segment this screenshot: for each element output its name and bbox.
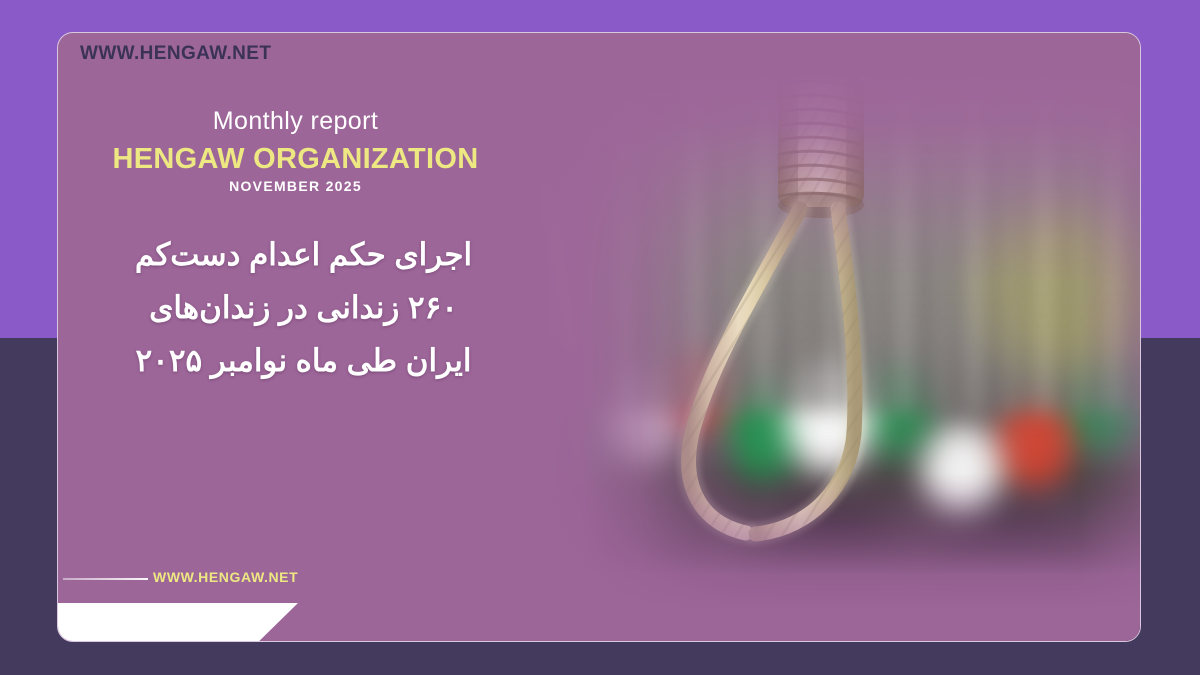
- website-url-banner-label[interactable]: WWW.HENGAW.NET: [80, 43, 271, 65]
- text-column: Monthly report HENGAW ORGANIZATION NOVEM…: [58, 33, 578, 642]
- headline-line-3: ایران طی ماه نوامبر ۲۰۲۵: [76, 334, 531, 387]
- headline: اجرای حکم اعدام دست‌کم ۲۶۰ زندانی در زند…: [76, 228, 531, 387]
- report-month: NOVEMBER 2025: [58, 178, 533, 194]
- url-divider-rule: [63, 578, 148, 580]
- website-url-banner[interactable]: [58, 603, 298, 642]
- website-url-accent[interactable]: WWW.HENGAW.NET: [153, 569, 298, 585]
- website-url-row: WWW.HENGAW.NET: [58, 569, 528, 589]
- kicker-label: Monthly report: [58, 107, 533, 136]
- report-card: Monthly report HENGAW ORGANIZATION NOVEM…: [57, 32, 1141, 642]
- headline-line-1: اجرای حکم اعدام دست‌کم: [76, 228, 531, 281]
- organization-title: HENGAW ORGANIZATION: [58, 143, 533, 176]
- headline-line-2: ۲۶۰ زندانی در زندان‌های: [76, 281, 531, 334]
